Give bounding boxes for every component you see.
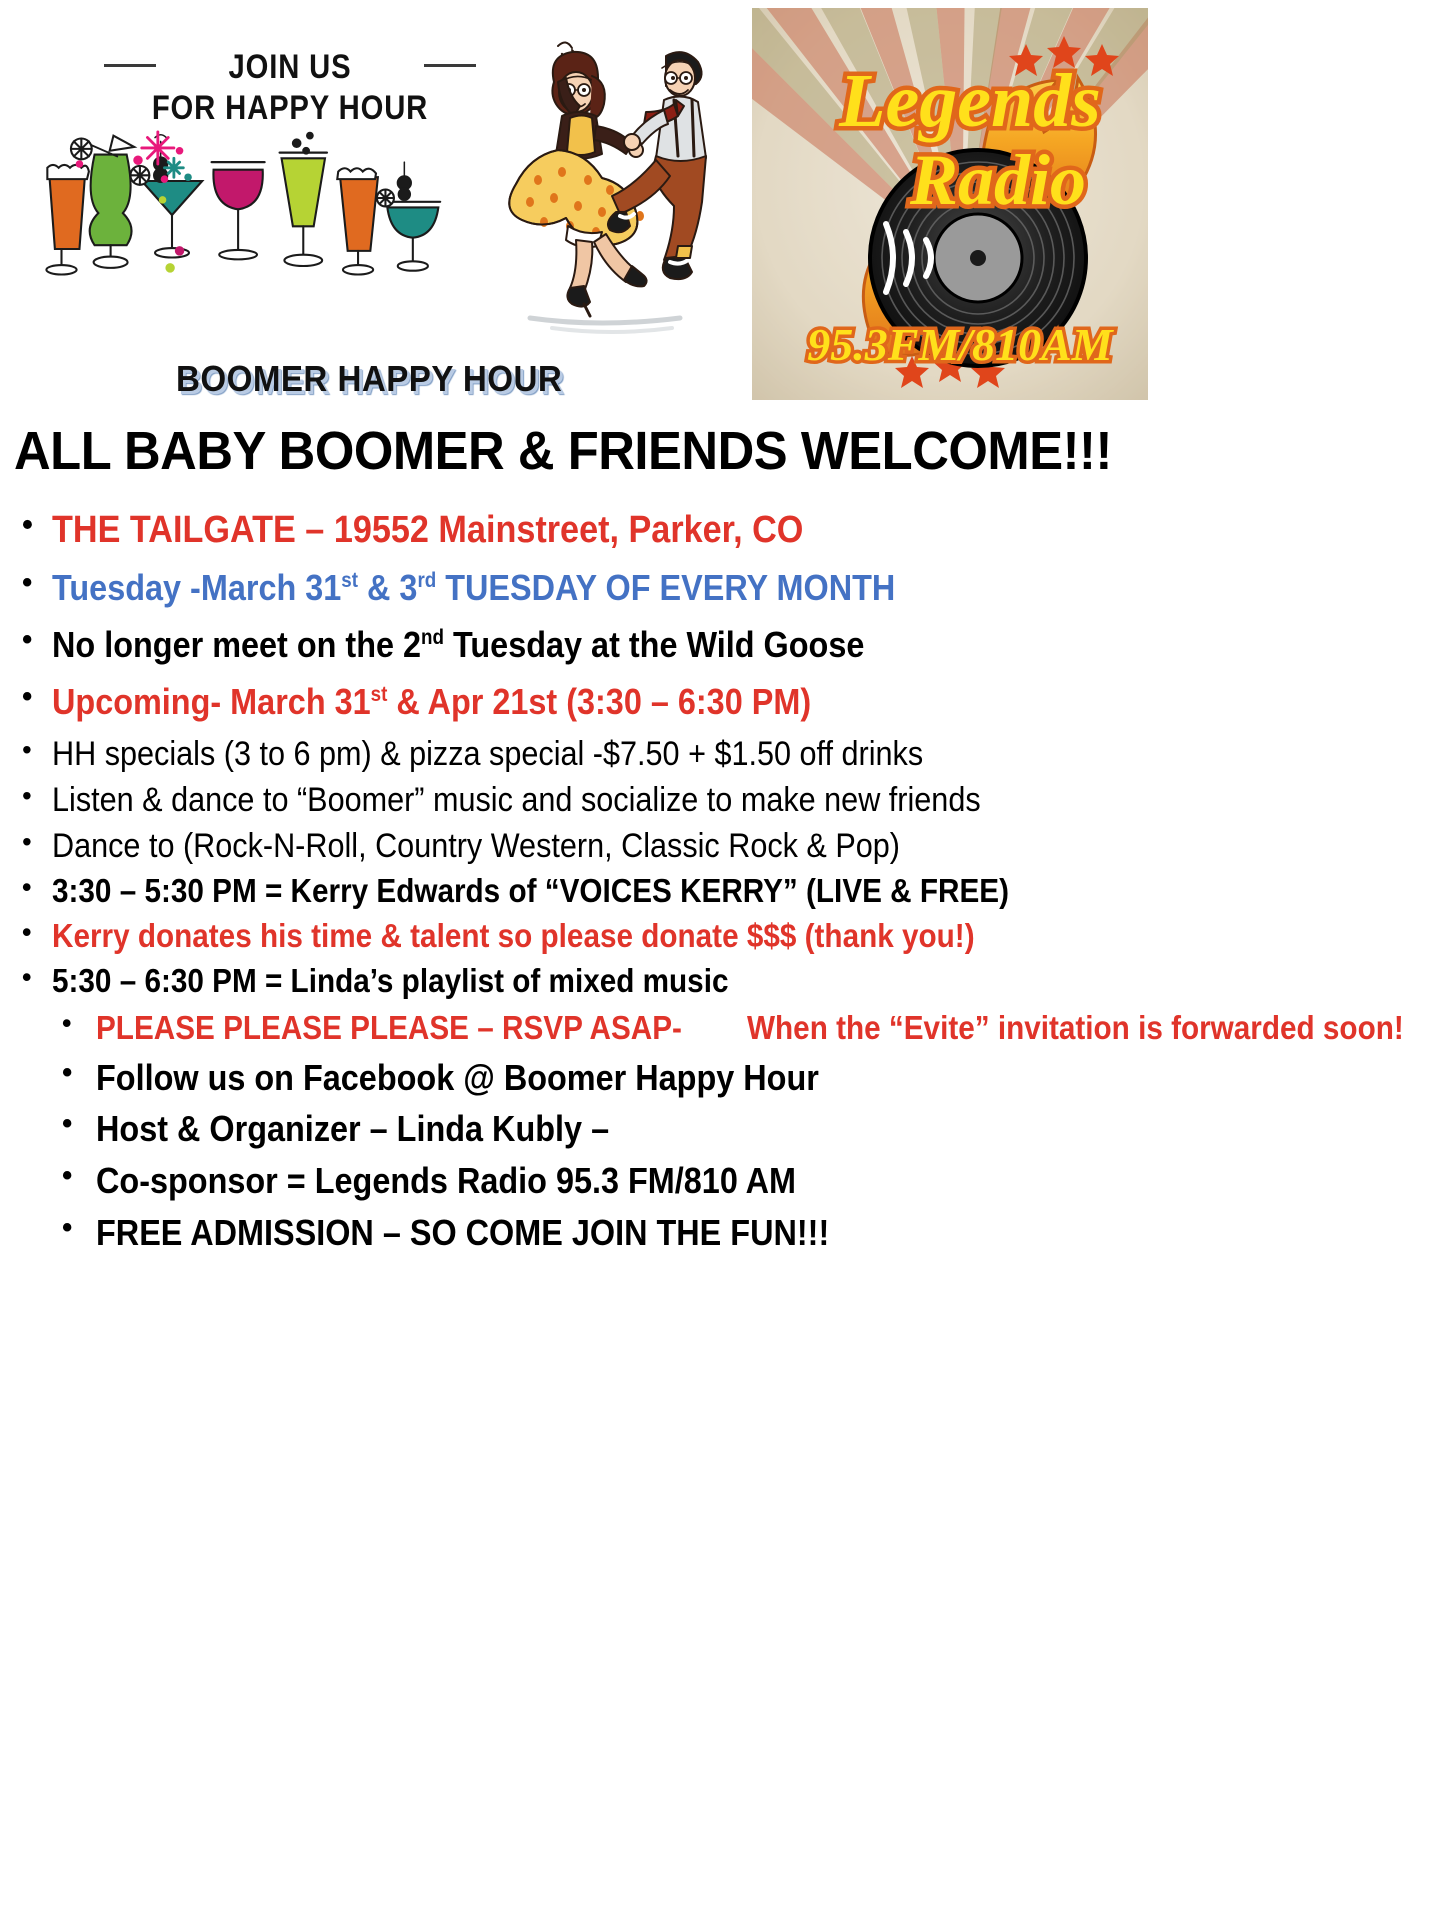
list-item-text: 5:30 – 6:30 PM = Linda’s playlist of mix… <box>52 959 728 1004</box>
list-item-text: No longer meet on the 2nd Tuesday at the… <box>52 617 864 674</box>
list-item-text: Listen & dance to “Boomer” music and soc… <box>52 777 981 823</box>
list-item-text: HH specials (3 to 6 pm) & pizza special … <box>52 731 923 777</box>
list-item-schedule: Tuesday -March 31st & 3rd TUESDAY OF EVE… <box>0 560 1448 617</box>
list-item-host: Host & Organizer – Linda Kubly – <box>0 1103 1448 1155</box>
list-item-no-longer: No longer meet on the 2nd Tuesday at the… <box>0 617 1448 674</box>
rule-right-icon <box>424 64 476 67</box>
list-item-text: Follow us on Facebook @ Boomer Happy Hou… <box>96 1052 819 1104</box>
join-us-line2: FOR HAPPY HOUR <box>135 89 445 128</box>
list-item-text: Dance to (Rock-N-Roll, Country Western, … <box>52 823 900 869</box>
list-item-upcoming: Upcoming- March 31st & Apr 21st (3:30 – … <box>0 674 1448 731</box>
list-item-text: Kerry donates his time & talent so pleas… <box>52 914 975 959</box>
list-item-text: Tuesday -March 31st & 3rd TUESDAY OF EVE… <box>52 560 895 617</box>
page-title: ALL BABY BOOMER & FRIENDS WELCOME!!! <box>14 420 1349 482</box>
list-item-text-line2: When the “Evite” invitation is forwarded… <box>747 1004 1404 1052</box>
details-list: THE TAILGATE – 19552 Mainstreet, Parker,… <box>0 500 1448 1259</box>
boomer-happy-hour-subtitle: BOOMER HAPPY HOUR <box>176 358 562 400</box>
svg-text:Radio: Radio <box>909 140 1086 220</box>
list-item-rsvp: PLEASE PLEASE PLEASE – RSVP ASAP-When th… <box>0 1004 1448 1052</box>
list-item-text: PLEASE PLEASE PLEASE – RSVP ASAP- <box>96 1004 682 1052</box>
list-item-kerry-donate: Kerry donates his time & talent so pleas… <box>0 914 1448 959</box>
list-item-text: Host & Organizer – Linda Kubly – <box>96 1103 609 1155</box>
list-item-cosponsor: Co-sponsor = Legends Radio 95.3 FM/810 A… <box>0 1155 1448 1207</box>
legends-radio-logo: Legends Radio 95.3FM/810AM <box>752 8 1148 400</box>
list-item-text: THE TAILGATE – 19552 Mainstreet, Parker,… <box>52 500 803 560</box>
svg-text:95.3FM/810AM: 95.3FM/810AM <box>807 319 1115 370</box>
list-item-text: Co-sponsor = Legends Radio 95.3 FM/810 A… <box>96 1155 796 1207</box>
list-item-facebook: Follow us on Facebook @ Boomer Happy Hou… <box>0 1052 1448 1104</box>
list-item-kerry-set: 3:30 – 5:30 PM = Kerry Edwards of “VOICE… <box>0 869 1448 914</box>
join-us-line1: JOIN US <box>135 48 445 87</box>
list-item-hh-specials: HH specials (3 to 6 pm) & pizza special … <box>0 731 1448 777</box>
list-item-text: 3:30 – 5:30 PM = Kerry Edwards of “VOICE… <box>52 869 1009 914</box>
list-item-text: FREE ADMISSION – SO COME JOIN THE FUN!!! <box>96 1207 829 1259</box>
cocktail-glasses-illustration <box>10 130 470 300</box>
list-item-text: Upcoming- March 31st & Apr 21st (3:30 – … <box>52 674 811 731</box>
svg-text:Legends: Legends <box>838 59 1101 143</box>
dancing-couple-illustration <box>470 30 750 350</box>
top-banner: JOIN US FOR HAPPY HOUR <box>0 0 1448 412</box>
list-item-listen: Listen & dance to “Boomer” music and soc… <box>0 777 1448 823</box>
list-item-free-admission: FREE ADMISSION – SO COME JOIN THE FUN!!! <box>0 1207 1448 1259</box>
rule-left-icon <box>104 64 156 67</box>
join-us-heading: JOIN US FOR HAPPY HOUR <box>110 48 470 128</box>
list-item-venue: THE TAILGATE – 19552 Mainstreet, Parker,… <box>0 500 1448 560</box>
list-item-linda-set: 5:30 – 6:30 PM = Linda’s playlist of mix… <box>0 959 1448 1004</box>
list-item-dance-to: Dance to (Rock-N-Roll, Country Western, … <box>0 823 1448 869</box>
